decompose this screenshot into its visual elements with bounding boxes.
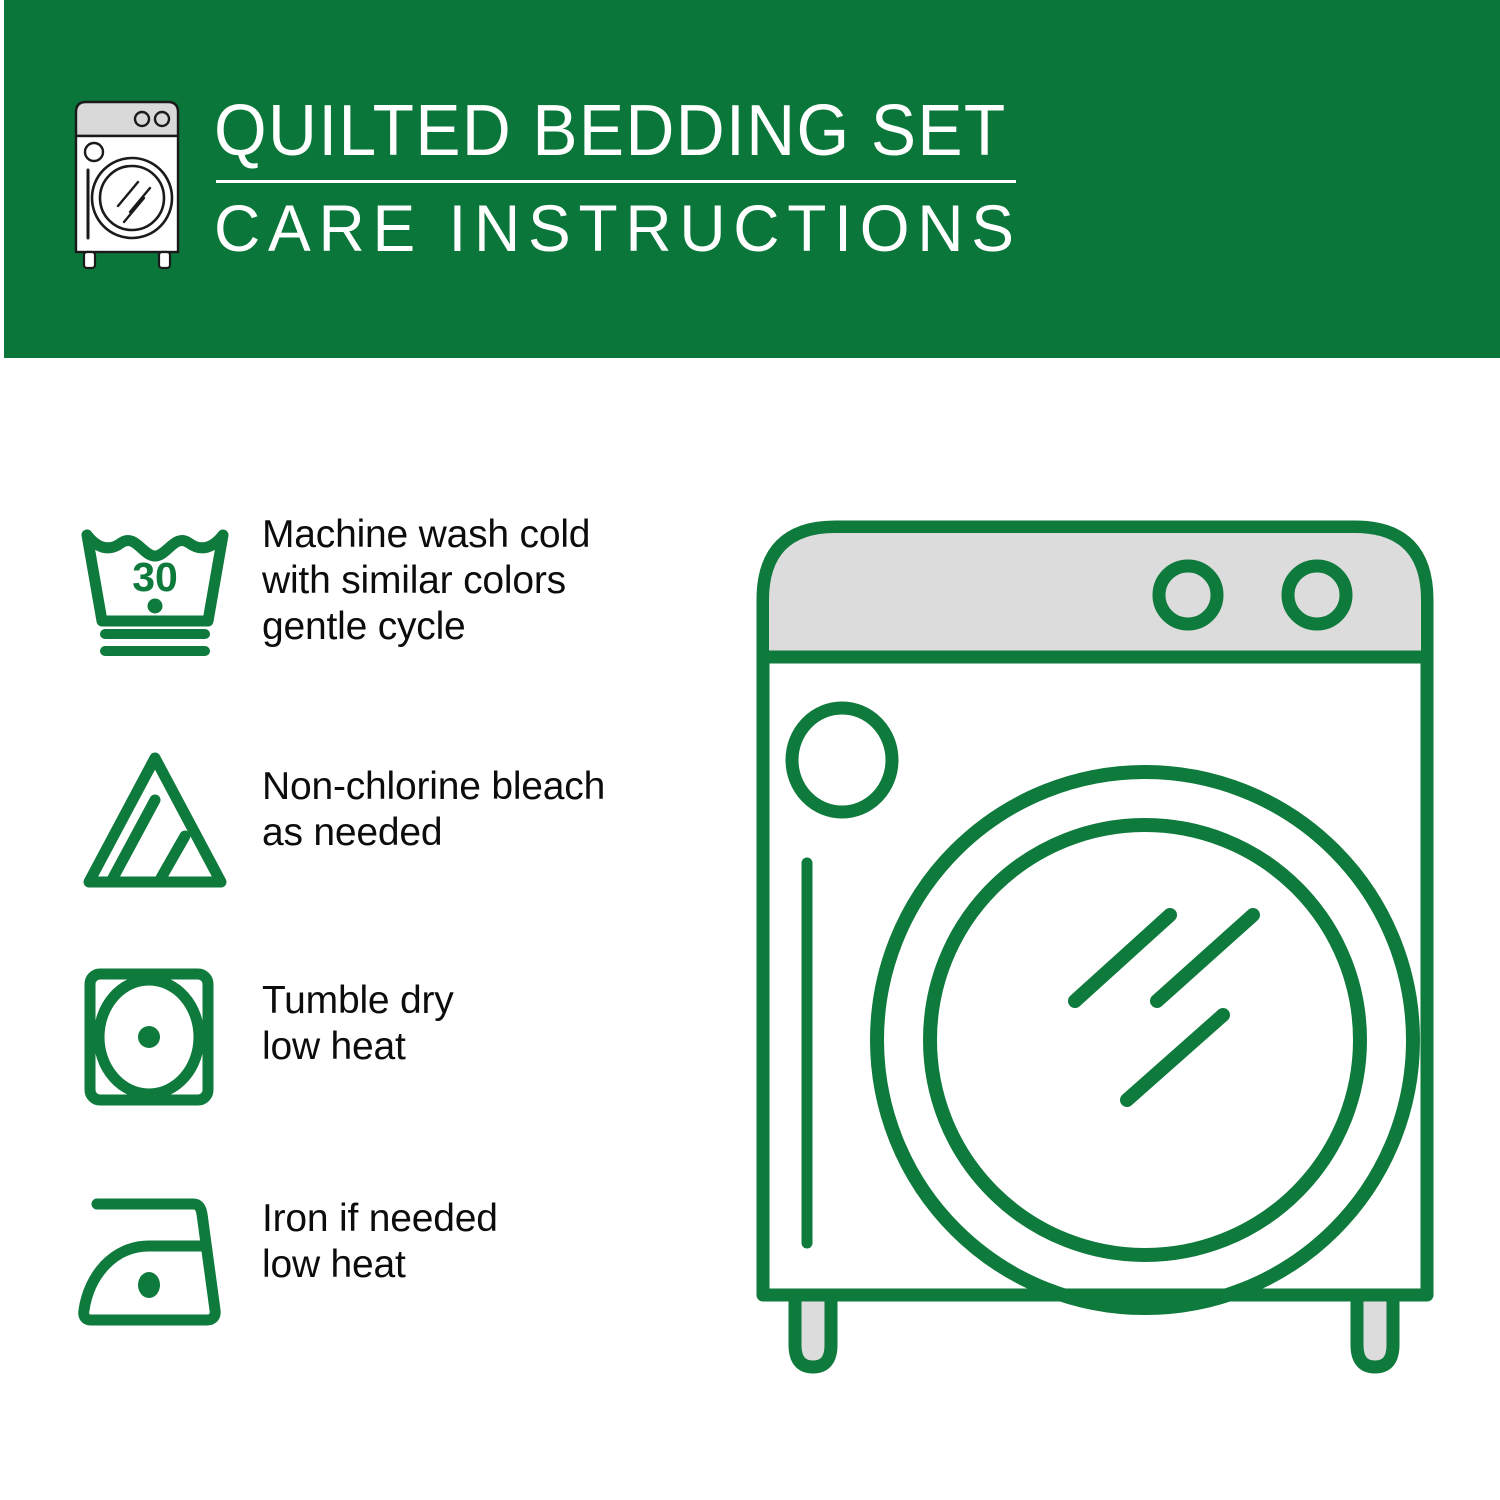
care-item-machine-wash: 30 Machine wash cold with similar colors… xyxy=(75,500,715,722)
washing-machine-icon xyxy=(62,98,192,273)
care-item-line-1: Iron if needed xyxy=(262,1196,715,1242)
front-load-washing-machine-illustration xyxy=(745,495,1445,1415)
care-instruction-list: 30 Machine wash cold with similar colors… xyxy=(75,500,715,1388)
care-item-label: Iron if needed low heat xyxy=(262,1166,715,1288)
care-item-line-2: low heat xyxy=(262,1242,715,1288)
care-item-line-1: Tumble dry xyxy=(262,978,715,1024)
care-item-line-1: Non-chlorine bleach xyxy=(262,764,715,810)
header-content: QUILTED BEDDING SET CARE INSTRUCTIONS xyxy=(62,92,1057,273)
care-item-line-2: as needed xyxy=(262,810,715,856)
care-item-line-2: with similar colors xyxy=(262,558,715,604)
wash-temperature-value: 30 xyxy=(132,554,178,600)
page-subtitle: CARE INSTRUCTIONS xyxy=(214,191,1032,265)
care-item-label: Non-chlorine bleach as needed xyxy=(262,722,715,856)
care-item-tumble-dry: Tumble dry low heat xyxy=(75,944,715,1166)
page-title: QUILTED BEDDING SET xyxy=(214,92,1007,170)
tumble-dry-low-symbol xyxy=(75,944,240,1112)
care-item-line-1: Machine wash cold xyxy=(262,512,715,558)
machine-control-panel xyxy=(769,533,1421,657)
care-item-line-3: gentle cycle xyxy=(262,604,715,650)
machine-wash-30-gentle-symbol: 30 xyxy=(75,500,240,668)
iron-low-heat-symbol xyxy=(75,1166,240,1338)
care-item-label: Tumble dry low heat xyxy=(262,944,715,1070)
care-item-bleach: Non-chlorine bleach as needed xyxy=(75,722,715,944)
care-item-label: Machine wash cold with similar colors ge… xyxy=(262,500,715,650)
care-item-line-2: low heat xyxy=(262,1024,715,1070)
care-item-iron: Iron if needed low heat xyxy=(75,1166,715,1388)
title-divider xyxy=(216,180,1016,183)
header-band: QUILTED BEDDING SET CARE INSTRUCTIONS xyxy=(4,0,1500,358)
header-title-group: QUILTED BEDDING SET CARE INSTRUCTIONS xyxy=(214,92,1057,265)
non-chlorine-bleach-symbol xyxy=(75,722,240,894)
